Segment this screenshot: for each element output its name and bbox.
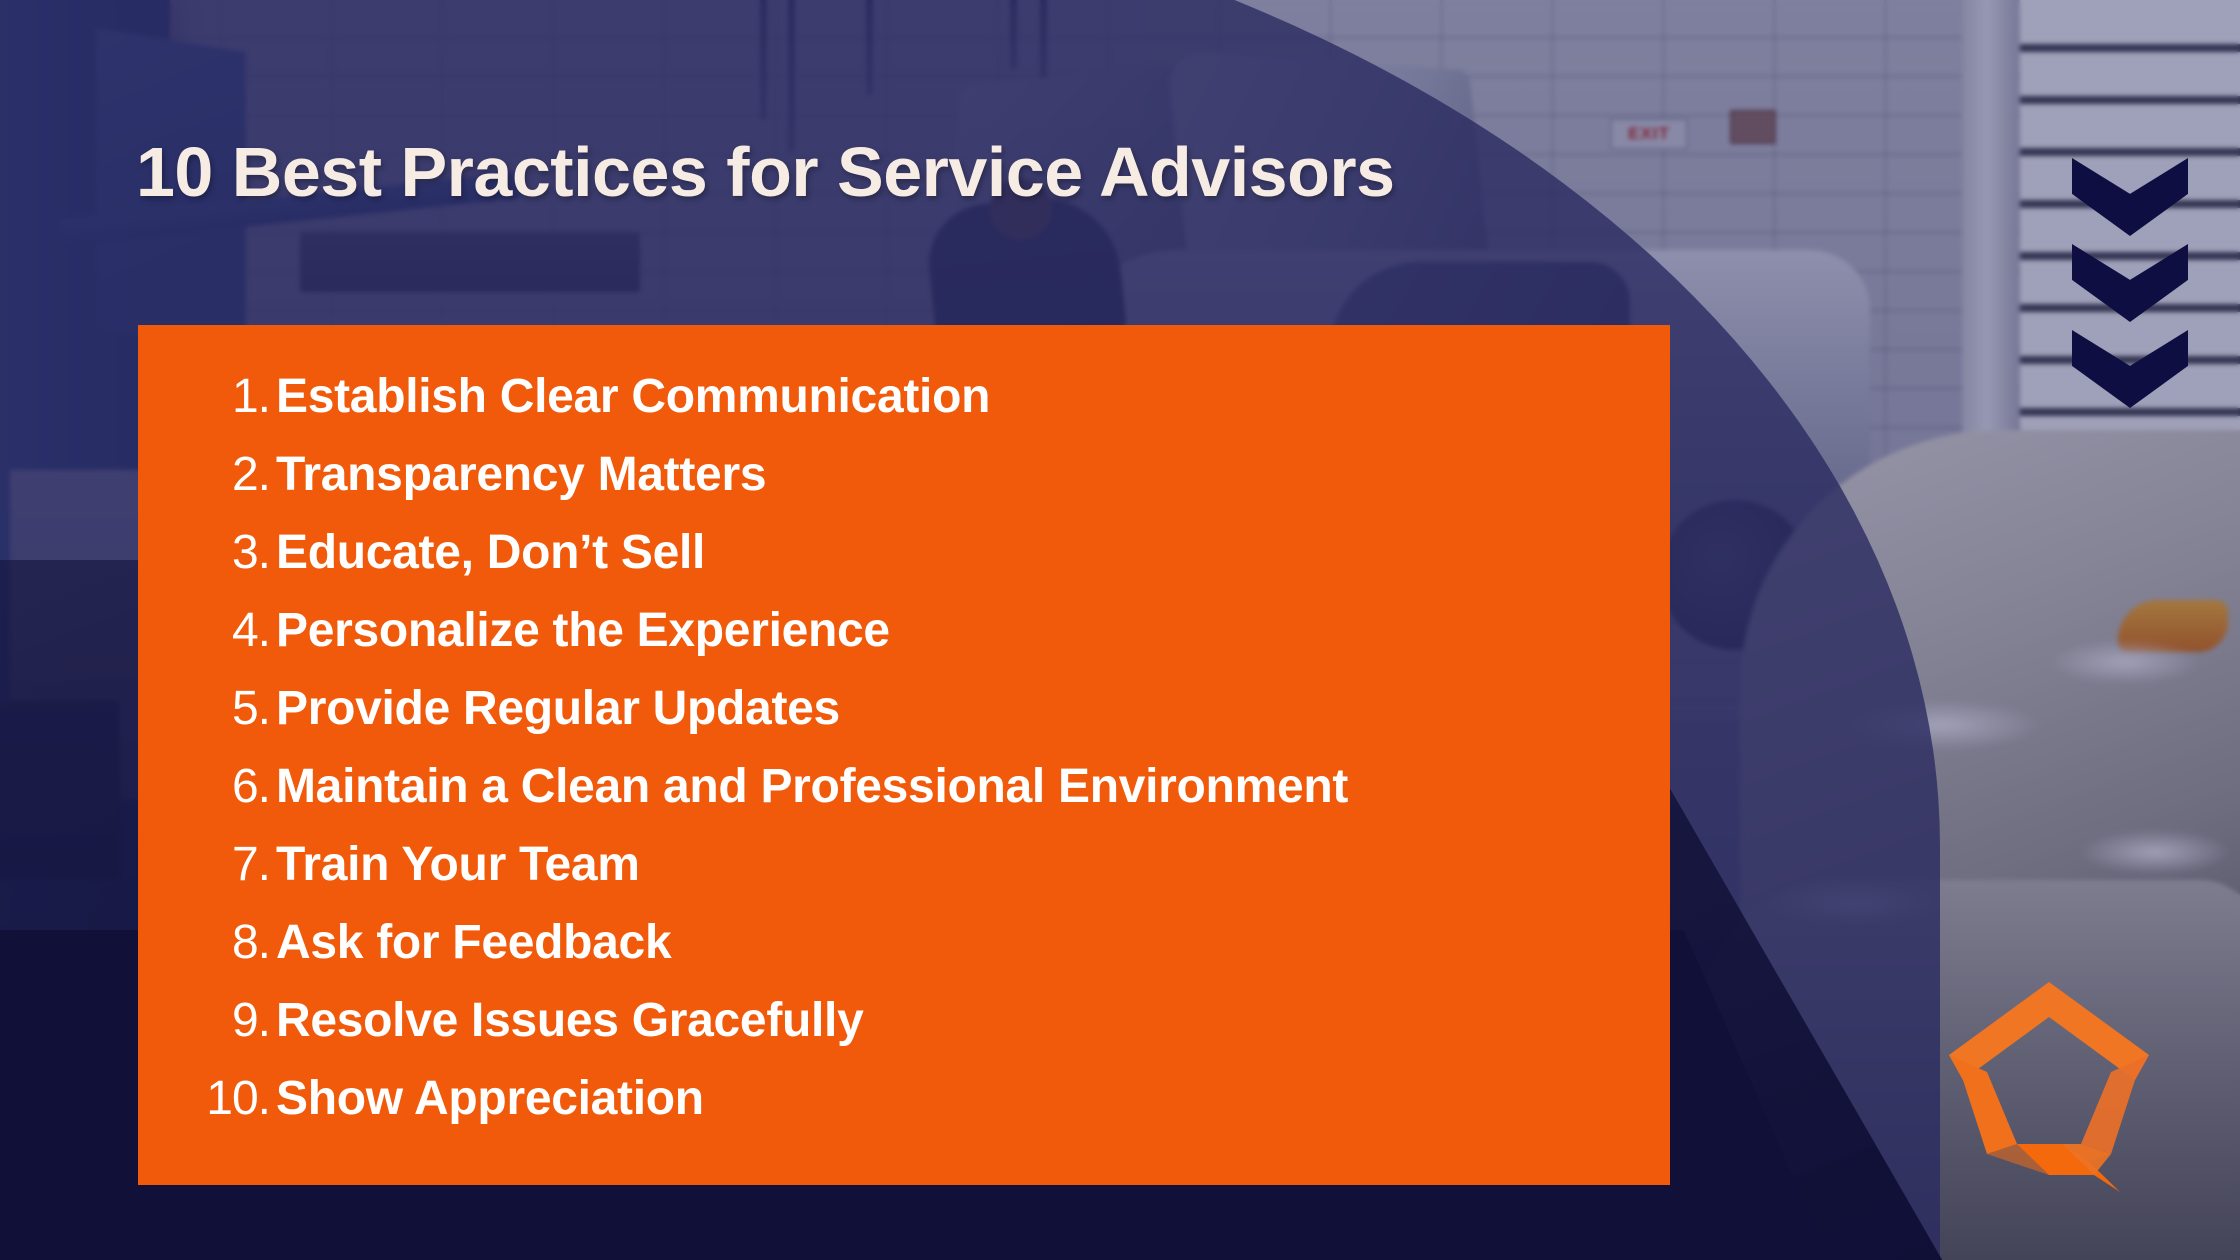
list-item-label: Show Appreciation <box>276 1071 704 1126</box>
chevron-down-icon <box>2072 244 2188 322</box>
list-item-label: Train Your Team <box>276 837 640 892</box>
list-item-number: 2. <box>138 447 276 502</box>
pentagon-q-logo <box>1944 976 2154 1198</box>
list-item-number: 10. <box>138 1071 276 1126</box>
list-item: 6.Maintain a Clean and Professional Envi… <box>138 759 1670 837</box>
list-item: 7.Train Your Team <box>138 837 1670 915</box>
list-item-number: 8. <box>138 915 276 970</box>
list-item: 10.Show Appreciation <box>138 1071 1670 1149</box>
list-item: 2.Transparency Matters <box>138 447 1670 525</box>
list-item-label: Transparency Matters <box>276 447 766 502</box>
best-practices-panel: 1.Establish Clear Communication2.Transpa… <box>138 325 1670 1185</box>
list-item: 4.Personalize the Experience <box>138 603 1670 681</box>
list-item-number: 1. <box>138 369 276 424</box>
chevron-group <box>2072 158 2188 416</box>
list-item-label: Personalize the Experience <box>276 603 890 658</box>
list-item-label: Resolve Issues Gracefully <box>276 993 864 1048</box>
list-item-number: 5. <box>138 681 276 736</box>
list-item-label: Provide Regular Updates <box>276 681 840 736</box>
list-item-label: Educate, Don’t Sell <box>276 525 705 580</box>
list-item: 8.Ask for Feedback <box>138 915 1670 993</box>
list-item: 1.Establish Clear Communication <box>138 369 1670 447</box>
list-item-number: 9. <box>138 993 276 1048</box>
best-practices-list: 1.Establish Clear Communication2.Transpa… <box>138 369 1670 1149</box>
chevron-down-icon <box>2072 158 2188 236</box>
chevron-down-icon <box>2072 330 2188 408</box>
list-item-number: 4. <box>138 603 276 658</box>
list-item-label: Establish Clear Communication <box>276 369 990 424</box>
list-item: 3.Educate, Don’t Sell <box>138 525 1670 603</box>
infographic-canvas: EXIT 10 Best Practices for Service Advis… <box>0 0 2240 1260</box>
list-item-number: 7. <box>138 837 276 892</box>
list-item: 9.Resolve Issues Gracefully <box>138 993 1670 1071</box>
list-item-number: 3. <box>138 525 276 580</box>
list-item-label: Ask for Feedback <box>276 915 671 970</box>
page-title: 10 Best Practices for Service Advisors <box>136 132 1395 212</box>
list-item-label: Maintain a Clean and Professional Enviro… <box>276 759 1348 814</box>
list-item-number: 6. <box>138 759 276 814</box>
list-item: 5.Provide Regular Updates <box>138 681 1670 759</box>
